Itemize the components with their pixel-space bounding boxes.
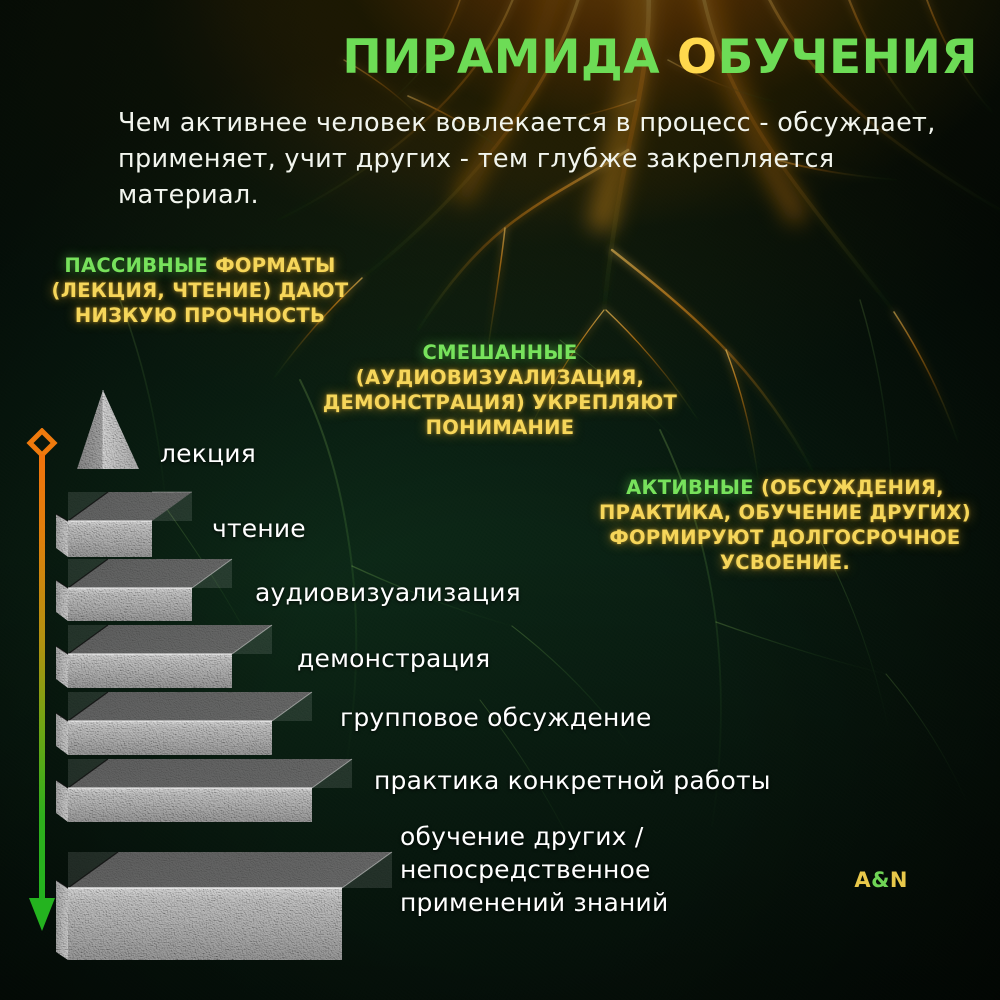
infographic-poster: ПИРАМИДА ОБУЧЕНИЯ Чем активнее человек в… <box>0 0 1000 1000</box>
pyramid-level-5 <box>56 692 312 755</box>
pyramid-label-audiovisual: аудиовизуализация <box>255 576 521 609</box>
pyramid-label-demonstration: демонстрация <box>297 642 490 675</box>
pyramid-level-1-apex <box>77 390 139 469</box>
pyramid-label-teaching-others: обучение других / непосредственное приме… <box>400 820 668 919</box>
signature-ampersand: & <box>871 868 890 892</box>
pyramid-label-lecture: лекция <box>160 437 256 470</box>
pyramid-level-4 <box>56 625 272 688</box>
pyramid-level-2 <box>56 492 192 557</box>
signature-letter-n: N <box>890 868 908 892</box>
author-signature: A&N <box>854 868 908 892</box>
signature-letter-a: A <box>854 868 871 892</box>
pyramid-level-7 <box>56 852 392 960</box>
pyramid-label-practice: практика конкретной работы <box>374 764 771 797</box>
pyramid-label-reading: чтение <box>212 512 306 545</box>
pyramid-level-3 <box>56 559 232 621</box>
pyramid-label-group-discussion: групповое обсуждение <box>340 701 652 734</box>
pyramid-level-6 <box>56 759 352 822</box>
